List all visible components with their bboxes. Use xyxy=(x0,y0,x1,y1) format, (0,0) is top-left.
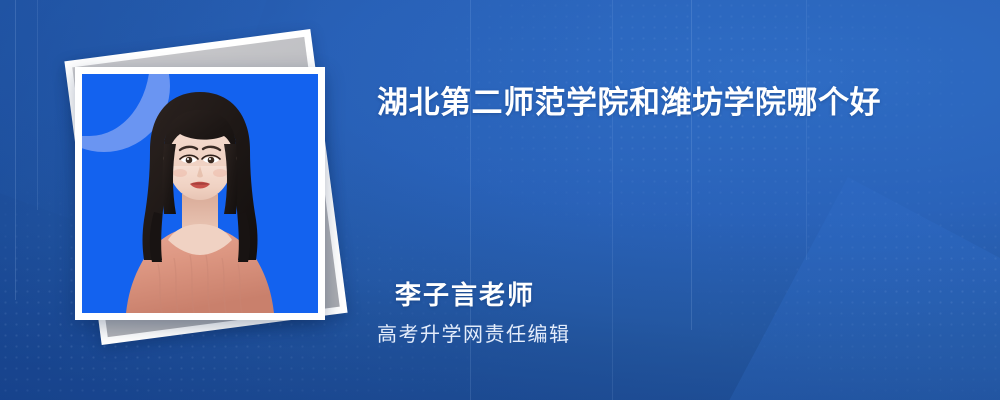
author-role: 高考升学网责任编辑 xyxy=(377,318,571,347)
photo-card-front xyxy=(75,67,325,320)
article-author-banner: 湖北第二师范学院和潍坊学院哪个好 李子言老师 高考升学网责任编辑 xyxy=(0,0,1000,400)
author-photo xyxy=(82,74,318,313)
article-headline: 湖北第二师范学院和潍坊学院哪个好 xyxy=(377,75,947,130)
photo-stack xyxy=(60,40,350,340)
text-column: 湖北第二师范学院和潍坊学院哪个好 李子言老师 高考升学网责任编辑 xyxy=(377,0,977,400)
author-name: 李子言老师 xyxy=(395,275,535,312)
portrait-illustration xyxy=(82,74,318,313)
